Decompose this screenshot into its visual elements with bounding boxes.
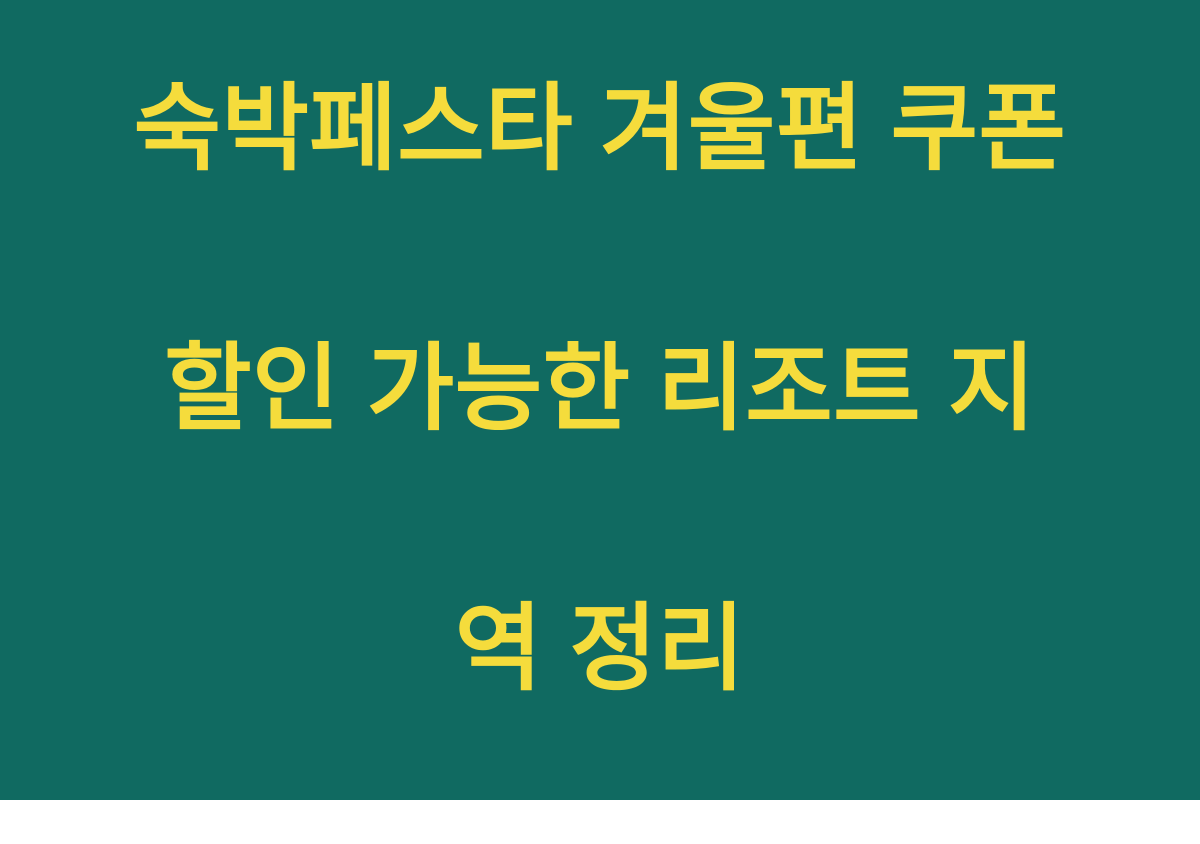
title-banner: 숙박페스타 겨울편 쿠폰 할인 가능한 리조트 지 역 정리 [0, 0, 1200, 800]
title-line-3: 역 정리 [60, 584, 1140, 714]
page-title: 숙박페스타 겨울편 쿠폰 할인 가능한 리조트 지 역 정리 [0, 0, 1200, 844]
title-line-1: 숙박페스타 겨울편 쿠폰 [60, 64, 1140, 194]
title-line-2: 할인 가능한 리조트 지 [60, 324, 1140, 454]
